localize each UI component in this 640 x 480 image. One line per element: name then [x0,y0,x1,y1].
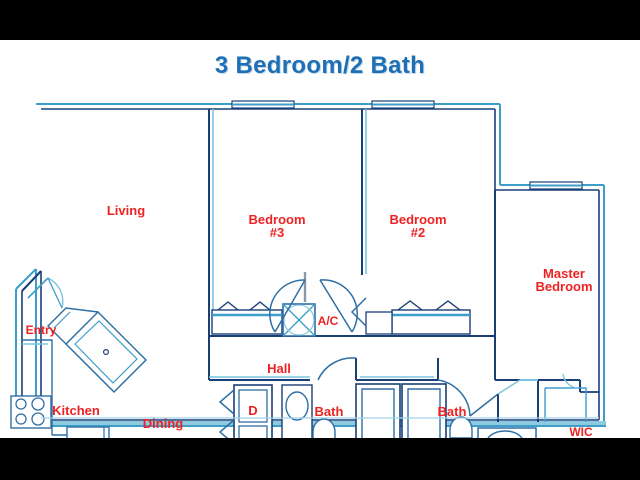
dishwasher-cabinet-icon [67,427,109,438]
letterbox-bar-top [0,0,640,40]
floorplan-drawing [0,40,640,438]
bedroom2-closet-icon [366,301,470,334]
floorplan-content-area: 3 Bedroom/2 Bath [0,40,640,438]
windows [232,101,582,189]
range-stove-icon [11,396,51,428]
bath2-vanity-icon [478,428,536,438]
laundry-closet-icon [220,385,272,438]
bedroom2-door [320,280,357,332]
bath2-tub-icon [402,384,446,438]
interior-walls [209,109,520,380]
bedroom2-closet-door [352,298,366,326]
kitchen-island-icon [48,308,146,392]
bath1-sink-icon [282,385,312,438]
wic-walls [520,374,599,422]
screenshot-root: 3 Bedroom/2 Bath [0,0,640,480]
bath1-tub-icon [356,384,400,438]
master-hall-door [498,380,520,394]
bath1-door [318,358,356,380]
bath2-door [438,380,498,422]
letterbox-bar-bottom [0,438,640,480]
bedroom3-closet-icon [212,302,282,334]
